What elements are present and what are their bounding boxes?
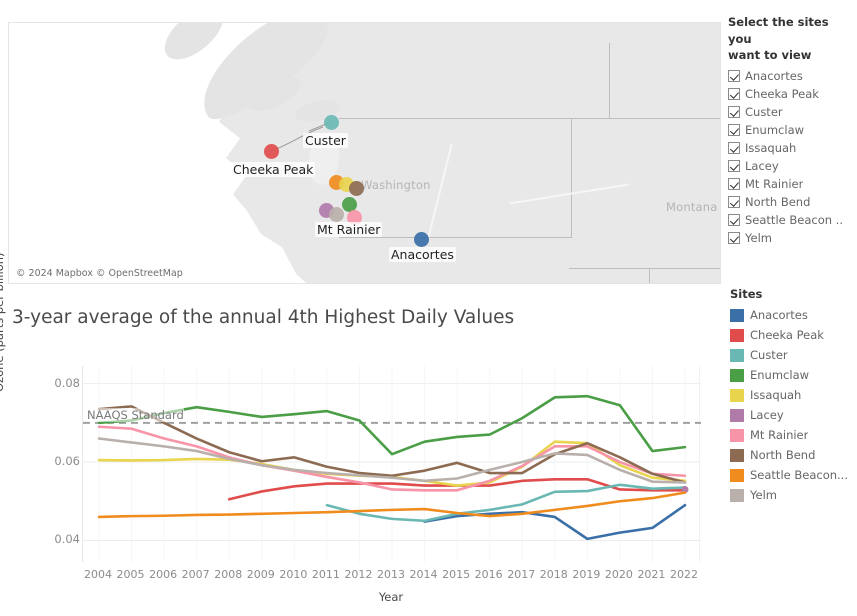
legend-label: Seattle Beacon...	[750, 468, 848, 482]
legend-item[interactable]: Custer	[730, 345, 857, 365]
site-filter-title-line1: Select the sites you	[728, 14, 853, 47]
site-filter-label: Lacey	[745, 159, 779, 173]
map-site-dot-north-bend[interactable]	[349, 181, 364, 196]
plot-svg	[83, 366, 701, 562]
legend-label: North Bend	[750, 448, 815, 462]
site-filter-row[interactable]: Issaquah	[728, 139, 853, 157]
map-site-label-custer: Custer	[303, 133, 348, 148]
x-tick-label: 2009	[247, 568, 275, 581]
legend-item[interactable]: Cheeka Peak	[730, 325, 857, 345]
map-site-label-anacortes: Anacortes	[389, 247, 456, 262]
legend-item[interactable]: Issaquah	[730, 385, 857, 405]
legend-label: Anacortes	[750, 308, 808, 322]
x-tick-label: 2015	[442, 568, 470, 581]
site-filter-row[interactable]: Custer	[728, 103, 853, 121]
site-filter-label: Custer	[745, 105, 783, 119]
y-axis-label: Ozone (parts per billion)	[0, 252, 6, 392]
x-tick-label: 2008	[214, 568, 242, 581]
site-filter-row[interactable]: Lacey	[728, 157, 853, 175]
site-filter-row[interactable]: Mt Rainier	[728, 175, 853, 193]
site-filter-row[interactable]: North Bend	[728, 193, 853, 211]
legend-label: Custer	[750, 348, 788, 362]
map-site-label-cheeka-peak: Cheeka Peak	[231, 162, 315, 177]
legend-swatch-issaquah	[730, 389, 744, 402]
map-site-dot-yelm[interactable]	[329, 207, 344, 222]
y-tick-label: 0.04	[40, 532, 80, 546]
legend-swatch-seattle-beacon	[730, 469, 744, 482]
map-site-label-mt-rainier: Mt Rainier	[315, 222, 382, 237]
x-tick-label: 2004	[84, 568, 112, 581]
legend-label: Lacey	[750, 408, 784, 422]
site-filter-label: Enumclaw	[745, 123, 804, 137]
x-tick-label: 2022	[670, 568, 698, 581]
x-tick-label: 2007	[182, 568, 210, 581]
site-filter-title: Select the sites you want to view	[728, 14, 853, 64]
site-filter-label: Seattle Beacon ..	[745, 213, 843, 227]
site-filter-row[interactable]: Enumclaw	[728, 121, 853, 139]
site-filter-row[interactable]: Seattle Beacon ..	[728, 211, 853, 229]
site-filter-label: Anacortes	[745, 69, 803, 83]
legend-label: Mt Rainier	[750, 428, 808, 442]
legend-label: Cheeka Peak	[750, 328, 824, 342]
checkbox-north-bend[interactable]	[728, 196, 740, 208]
x-tick-label: 2020	[605, 568, 633, 581]
x-tick-label: 2016	[475, 568, 503, 581]
site-filter-panel: Select the sites you want to view Anacor…	[728, 14, 853, 247]
legend-item[interactable]: North Bend	[730, 445, 857, 465]
legend-swatch-lacey	[730, 409, 744, 422]
legend-item[interactable]: Yelm	[730, 485, 857, 505]
legend-item[interactable]: Anacortes	[730, 305, 857, 325]
x-axis-ticks: 2004200520062007200820092010201120122013…	[82, 568, 700, 584]
x-tick-label: 2006	[149, 568, 177, 581]
sites-legend: Sites AnacortesCheeka PeakCusterEnumclaw…	[730, 287, 857, 505]
checkbox-enumclaw[interactable]	[728, 124, 740, 136]
x-tick-label: 2019	[572, 568, 600, 581]
map-attribution: © 2024 Mapbox © OpenStreetMap	[14, 268, 185, 279]
legend-swatch-yelm	[730, 489, 744, 502]
legend-label: Enumclaw	[750, 368, 809, 382]
y-tick-label: 0.06	[40, 454, 80, 468]
y-axis-ticks: 0.040.060.08	[30, 366, 80, 562]
site-filter-row[interactable]: Yelm	[728, 229, 853, 247]
checkbox-lacey[interactable]	[728, 160, 740, 172]
legend-item[interactable]: Lacey	[730, 405, 857, 425]
map-border-wa-id	[571, 118, 572, 238]
site-filter-label: Yelm	[745, 231, 772, 245]
legend-swatch-enumclaw	[730, 369, 744, 382]
map-site-dot-cheeka-peak[interactable]	[264, 144, 279, 159]
legend-item[interactable]: Mt Rainier	[730, 425, 857, 445]
x-tick-label: 2014	[410, 568, 438, 581]
x-tick-label: 2013	[377, 568, 405, 581]
map-site-dot-anacortes[interactable]	[414, 232, 429, 247]
checkbox-issaquah[interactable]	[728, 142, 740, 154]
map-border-or-south	[569, 268, 721, 269]
checkbox-yelm[interactable]	[728, 232, 740, 244]
x-tick-label: 2011	[312, 568, 340, 581]
site-filter-row[interactable]: Cheeka Peak	[728, 85, 853, 103]
site-filter-label: North Bend	[745, 195, 810, 209]
legend-item[interactable]: Enumclaw	[730, 365, 857, 385]
line-chart: Ozone (parts per billion) 0.040.060.08 N…	[0, 340, 722, 610]
x-tick-label: 2005	[117, 568, 145, 581]
legend-swatch-cheeka-peak	[730, 329, 744, 342]
plot-area: NAAQS Standard	[82, 366, 700, 562]
site-filter-label: Mt Rainier	[745, 177, 803, 191]
legend-swatch-north-bend	[730, 449, 744, 462]
site-filter-list: AnacortesCheeka PeakCusterEnumclawIssaqu…	[728, 67, 853, 247]
naaqs-standard-annotation: NAAQS Standard	[87, 408, 184, 422]
legend-list: AnacortesCheeka PeakCusterEnumclawIssaqu…	[730, 305, 857, 505]
legend-title: Sites	[730, 287, 857, 301]
map-border-id-mt	[609, 43, 610, 119]
x-tick-label: 2012	[344, 568, 372, 581]
y-tick-label: 0.08	[40, 376, 80, 390]
site-filter-title-line2: want to view	[728, 47, 853, 64]
site-filter-label: Issaquah	[745, 141, 796, 155]
map-panel[interactable]: Washington Montana Custer Cheeka Peak Mt…	[8, 22, 721, 284]
chart-title: 3-year average of the annual 4th Highest…	[12, 307, 514, 328]
legend-item[interactable]: Seattle Beacon...	[730, 465, 857, 485]
x-axis-label: Year	[82, 590, 700, 604]
legend-label: Issaquah	[750, 388, 801, 402]
map-border-canada-us	[339, 118, 721, 119]
checkbox-anacortes[interactable]	[728, 70, 740, 82]
x-tick-label: 2010	[279, 568, 307, 581]
site-filter-label: Cheeka Peak	[745, 87, 819, 101]
x-tick-label: 2017	[507, 568, 535, 581]
checkbox-custer[interactable]	[728, 106, 740, 118]
site-filter-row[interactable]: Anacortes	[728, 67, 853, 85]
legend-swatch-custer	[730, 349, 744, 362]
checkbox-mt-rainier[interactable]	[728, 178, 740, 190]
checkbox-seattle-beacon[interactable]	[728, 214, 740, 226]
checkbox-cheeka-peak[interactable]	[728, 88, 740, 100]
legend-label: Yelm	[750, 488, 777, 502]
map-border-id-east	[649, 268, 650, 284]
map-border-wa-or	[339, 237, 571, 238]
legend-swatch-mt-rainier	[730, 429, 744, 442]
map-site-dot-custer[interactable]	[324, 115, 339, 130]
x-tick-label: 2021	[637, 568, 665, 581]
x-tick-label: 2018	[540, 568, 568, 581]
legend-swatch-anacortes	[730, 309, 744, 322]
